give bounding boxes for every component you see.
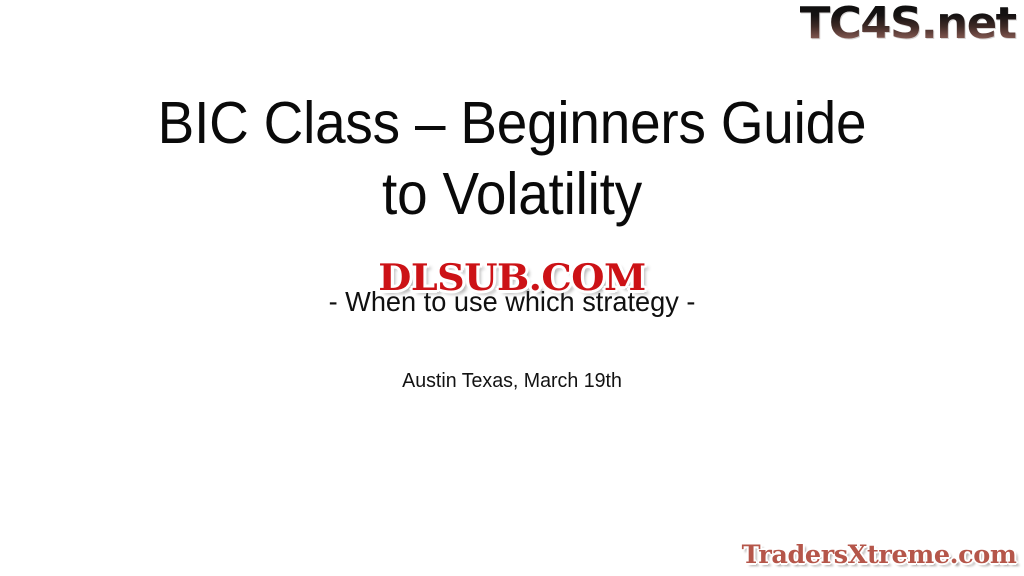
title-line-1: BIC Class – Beginners Guide [36, 88, 988, 159]
subtitle: - When to use which strategy - [0, 285, 1024, 319]
subtitle-text: - When to use which strategy - [15, 285, 1008, 319]
presentation-slide: TC4S.net TC4S.net BIC Class – Beginners … [0, 0, 1024, 576]
page-title: BIC Class – Beginners Guide to Volatilit… [0, 88, 1024, 230]
tc4s-logo: TC4S.net [800, 2, 1016, 46]
event-location-date: Austin Texas, March 19th [10, 368, 1014, 394]
title-line-2: to Volatility [36, 159, 988, 230]
tradersxtreme-logo: TradersXtreme.com [741, 540, 1016, 570]
